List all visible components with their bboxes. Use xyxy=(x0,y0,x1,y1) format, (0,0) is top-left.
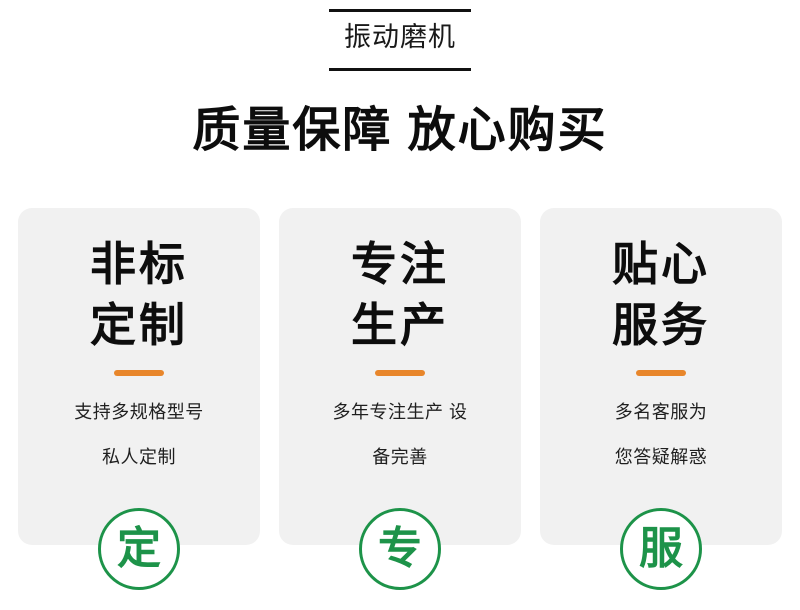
feature-card-custom: 非标 定制 支持多规格型号 私人定制 定 xyxy=(18,208,260,545)
card-description-line2: 备完善 xyxy=(332,435,467,480)
card-title: 专注 生产 xyxy=(351,234,449,356)
card-title-line1: 非标 xyxy=(90,234,188,295)
card-badge-circle-icon: 专 xyxy=(359,508,441,590)
eyebrow-title: 振动磨机 xyxy=(344,12,456,62)
feature-card-row: 非标 定制 支持多规格型号 私人定制 定 专注 生产 多年专注生产 设 备完善 … xyxy=(18,208,782,545)
feature-card-production: 专注 生产 多年专注生产 设 备完善 专 xyxy=(279,208,521,545)
card-description: 多年专注生产 设 备完善 xyxy=(332,390,467,480)
card-description-line1: 多名客服为 xyxy=(615,390,708,435)
page-title: 质量保障 放心购买 xyxy=(0,100,800,162)
card-description-line2: 您答疑解惑 xyxy=(615,435,708,480)
eyebrow-header: 振动磨机 xyxy=(0,0,800,86)
card-description-line1: 支持多规格型号 xyxy=(74,390,204,435)
card-title: 非标 定制 xyxy=(90,234,188,356)
card-title-line2: 定制 xyxy=(90,295,188,356)
card-title-line1: 贴心 xyxy=(612,234,710,295)
card-title-line1: 专注 xyxy=(351,234,449,295)
feature-card-service: 贴心 服务 多名客服为 您答疑解惑 服 xyxy=(540,208,782,545)
card-description-line1: 多年专注生产 设 xyxy=(332,390,467,435)
card-title-line2: 生产 xyxy=(351,295,449,356)
card-title: 贴心 服务 xyxy=(612,234,710,356)
card-badge-circle-icon: 定 xyxy=(98,508,180,590)
card-description: 支持多规格型号 私人定制 xyxy=(74,390,204,480)
card-description-line2: 私人定制 xyxy=(74,435,204,480)
eyebrow-rule-bottom xyxy=(329,68,471,71)
card-divider-icon xyxy=(375,370,425,376)
card-divider-icon xyxy=(114,370,164,376)
card-divider-icon xyxy=(636,370,686,376)
card-badge-circle-icon: 服 xyxy=(620,508,702,590)
card-description: 多名客服为 您答疑解惑 xyxy=(615,390,708,480)
card-title-line2: 服务 xyxy=(612,295,710,356)
